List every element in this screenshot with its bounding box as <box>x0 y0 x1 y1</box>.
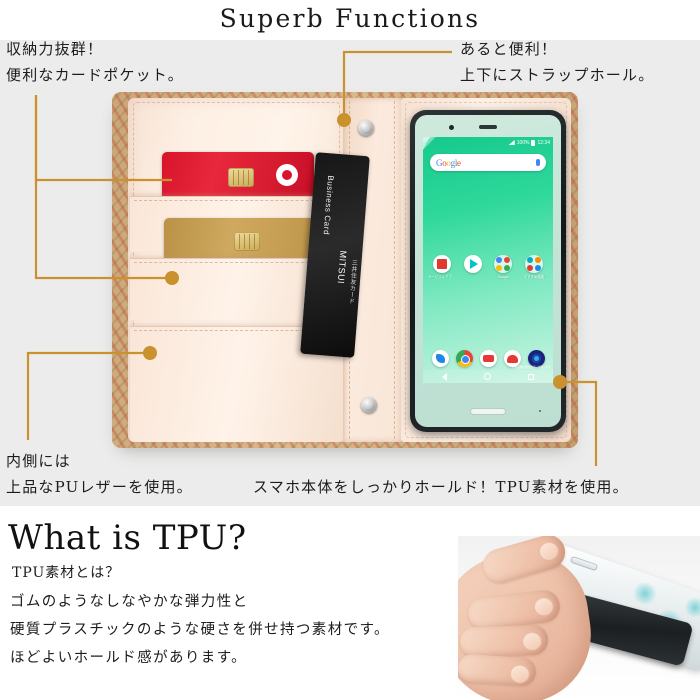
front-camera-icon <box>449 125 454 130</box>
earpiece-speaker-icon <box>479 125 497 129</box>
tpu-explainer-section: What is TPU? TPU素材とは？ ゴムのようなしなやかな弾力性と 硬質… <box>0 506 700 700</box>
recommended-folder-icon[interactable] <box>525 255 543 273</box>
play-store-icon[interactable] <box>464 255 482 273</box>
strap-hole-snap-bottom-icon <box>361 397 377 413</box>
status-bar: 100% 12:34 <box>423 137 553 148</box>
strap-hole-snap-top-icon <box>358 120 374 136</box>
fingernail <box>533 596 555 617</box>
smartphone-in-tpu-case: 100% 12:34 Google サービス＆アプリケーション <box>410 110 566 432</box>
product-photo-wallet-case: Business Card MITSUI 三井住友カード 100% 12:34 <box>112 92 578 448</box>
callout-line: 上下にストラップホール。 <box>460 62 654 88</box>
app-item[interactable]: おすすめ機能 <box>520 255 548 279</box>
app-grid: サービス＆アプリケーション Google おすすめ機能 <box>428 255 548 279</box>
tpu-body-line: ほどよいホールド感があります。 <box>10 644 390 672</box>
news-app-icon[interactable] <box>433 255 451 273</box>
business-card-brand: MITSUI <box>336 250 349 284</box>
app-item[interactable] <box>459 255 487 279</box>
app-label: サービス＆アプリケーション <box>428 275 456 279</box>
tpu-body-text: ゴムのようなしなやかな弾力性と 硬質プラスチックのような硬さを併せ持つ素材です。… <box>10 588 390 672</box>
tpu-heading: What is TPU? <box>8 518 247 558</box>
google-folder-icon[interactable] <box>494 255 512 273</box>
ring-finger <box>460 624 549 657</box>
android-navigation-bar <box>423 370 553 383</box>
home-icon[interactable] <box>484 373 491 380</box>
fingernail <box>509 664 530 684</box>
business-card-label: Business Card <box>322 175 336 235</box>
little-finger <box>458 653 537 686</box>
back-icon[interactable] <box>442 373 447 381</box>
callout-strap-hole: あると便利！ 上下にストラップホール。 <box>460 36 654 88</box>
card-chip-icon <box>228 168 254 187</box>
sensor-dot-icon <box>539 410 541 412</box>
app-label: おすすめ機能 <box>520 275 548 279</box>
recents-icon[interactable] <box>528 374 534 380</box>
callout-line: 上品なPUレザーを使用。 <box>6 474 193 500</box>
microphone-icon[interactable] <box>536 159 540 166</box>
home-key <box>470 408 506 415</box>
phone-body: 100% 12:34 Google サービス＆アプリケーション <box>415 115 561 427</box>
tpu-body-line: ゴムのようなしなやかな弾力性と <box>10 588 390 616</box>
chrome-app-icon[interactable] <box>456 350 473 367</box>
page-title: Superb Functions <box>0 4 700 33</box>
callout-line: あると便利！ <box>460 36 654 62</box>
tpu-body-line: 硬質プラスチックのような硬さを併せ持つ素材です。 <box>10 616 390 644</box>
battery-icon <box>531 140 535 146</box>
clock-label: 12:34 <box>537 140 550 146</box>
app-label: Google <box>489 275 517 279</box>
callout-card-pocket: 収納力抜群！ 便利なカードポケット。 <box>6 36 184 88</box>
wallpaper-credit-text: 壁紙画像は著作権者に帰属します <box>512 365 551 369</box>
battery-percent-label: 100% <box>517 140 530 146</box>
tpu-subheading: TPU素材とは？ <box>12 562 120 582</box>
fingernail <box>522 632 543 652</box>
card-logo-icon <box>276 164 298 186</box>
callout-tpu-hold: スマホ本体をしっかりホールド！TPU素材を使用。 <box>253 474 629 500</box>
app-item[interactable]: Google <box>489 255 517 279</box>
google-logo-icon: Google <box>436 158 461 168</box>
features-section: Superb Functions Business Card MITSUI 三井… <box>0 0 700 506</box>
callout-line: 内側には <box>6 448 193 474</box>
tpu-flex-demo-photo <box>458 536 700 700</box>
fingernail <box>537 539 561 563</box>
phone-screen: 100% 12:34 Google サービス＆アプリケーション <box>423 137 553 383</box>
google-search-widget[interactable]: Google <box>430 154 546 171</box>
signal-icon <box>509 140 515 145</box>
messages-app-icon[interactable] <box>480 350 497 367</box>
app-item[interactable]: サービス＆アプリケーション <box>428 255 456 279</box>
card-chip-icon <box>234 232 260 251</box>
callout-line: 収納力抜群！ <box>6 36 184 62</box>
callout-pu-leather: 内側には 上品なPUレザーを使用。 <box>6 448 193 500</box>
callout-line: 便利なカードポケット。 <box>6 62 184 88</box>
callout-line: スマホ本体をしっかりホールド！TPU素材を使用。 <box>253 474 629 500</box>
business-card-brand-jp: 三井住友カード <box>346 259 358 304</box>
phone-app-icon[interactable] <box>432 350 449 367</box>
